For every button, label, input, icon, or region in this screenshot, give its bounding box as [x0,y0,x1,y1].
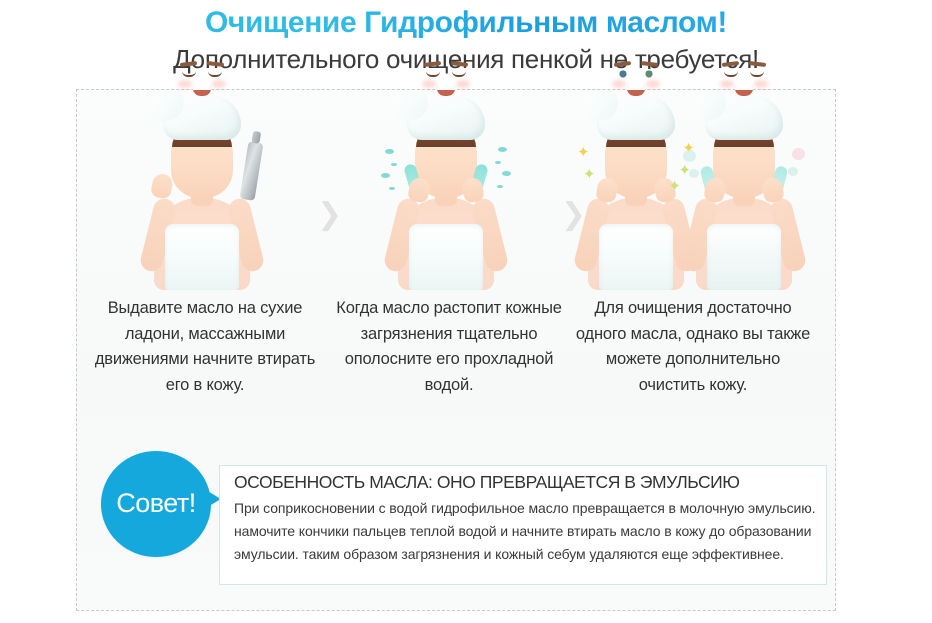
content-panel: Выдавите масло на сухие ладони, массажны… [76,89,836,611]
tip-badge: Совет! [101,451,211,557]
oil-bottle-icon [240,141,264,201]
tip-badge-label: Совет! [116,488,196,519]
step-caption-1: Выдавите масло на сухие ладони, массажны… [85,296,325,398]
infographic-root: Очищение Гидрофильным маслом! Дополнител… [0,0,932,623]
tip-body-text: При соприкосновении с водой гидрофильное… [234,497,816,565]
step-caption-2: Когда масло растопит кожные загрязнения … [329,296,569,398]
step-card-2: Когда масло растопит кожные загрязнения … [329,98,569,438]
illustration-woman-with-oil-bottle [85,98,325,290]
steps-strip: Выдавите масло на сухие ладони, массажны… [77,98,837,438]
sparkle-icon: ✦ [668,179,681,194]
step-card-1: Выдавите масло на сухие ладони, массажны… [85,98,325,438]
sparkle-icon: ✦ [583,167,596,182]
step-card-3: ✦ ✦ ✦ ✦ ✦ [573,98,813,438]
illustration-clean-skin-and-foam: ✦ ✦ ✦ ✦ ✦ [573,98,813,290]
tip-badge-tail-icon [199,486,221,512]
sparkle-icon: ✦ [577,145,590,160]
tip-heading: ОСОБЕННОСТЬ МАСЛА: ОНО ПРЕВРАЩАЕТСЯ В ЭМ… [234,472,818,493]
page-subtitle: Дополнительного очищения пенкой не требу… [0,45,932,75]
illustration-woman-rinsing-face [329,98,569,290]
step-caption-3: Для очищения достаточно одного масла, од… [573,296,813,398]
tip-callout-box: ОСОБЕННОСТЬ МАСЛА: ОНО ПРЕВРАЩАЕТСЯ В ЭМ… [219,465,827,585]
page-title: Очищение Гидрофильным маслом! [205,6,727,40]
